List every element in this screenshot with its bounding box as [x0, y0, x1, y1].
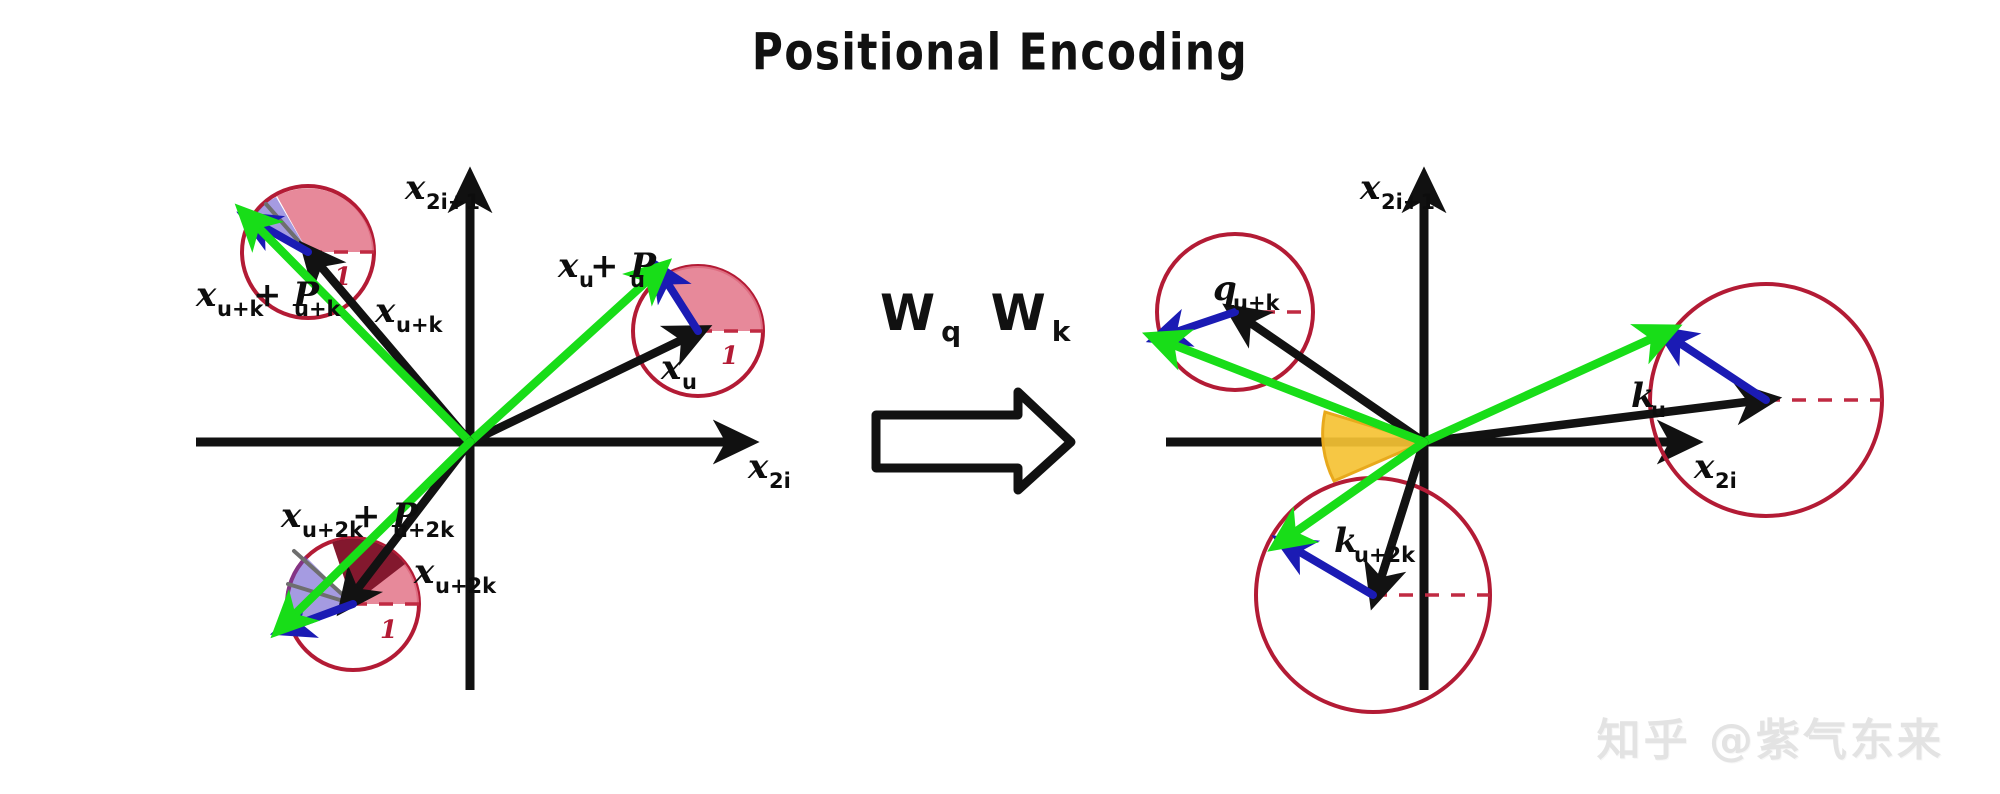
wk-label: W	[991, 284, 1052, 342]
left-label-sum-u-base: x	[557, 246, 579, 286]
right-label-q-u-plus-k: q u+k	[1213, 269, 1281, 315]
wq-subscript: q	[941, 315, 967, 348]
left-label-x-u-base: x	[660, 348, 682, 388]
left-label-x-u-plus-2k-sub: u+2k	[435, 574, 497, 598]
wk-subscript: k	[1052, 315, 1077, 348]
left-label-x-u: x u	[660, 348, 697, 394]
left-radius-label-u: 1	[721, 341, 738, 370]
right-vector-rot-k-u	[1669, 336, 1766, 400]
left-label-x-u-plus-k: x u+k	[374, 291, 444, 337]
right-x-axis-label-sub: 2i	[1715, 469, 1737, 493]
left-label-sum-u-plus-k-base: x	[195, 275, 217, 315]
left-label-x-u-plus-2k: x u+2k	[413, 552, 497, 598]
right-query-u-plus-k-group: q u+k	[1157, 234, 1424, 442]
left-label-sum-u-plus-2k: x u+2k + P u+2k	[280, 496, 455, 542]
left-label-sum-u-base2: + P	[590, 246, 657, 286]
left-x-axis-label-base: x	[747, 447, 769, 487]
left-label-x-u-sub: u	[682, 370, 697, 394]
right-vector-rot-q-u-plus-k	[1164, 312, 1235, 336]
left-panel: x 2i x 2i+1 1 x u x	[195, 168, 791, 690]
wq-label: W	[880, 284, 941, 342]
right-x-axis-label: x 2i	[1693, 447, 1737, 493]
right-label-q-u-plus-k-sub: u+k	[1233, 291, 1281, 315]
left-label-sum-u-plus-2k-sub2: u+2k	[393, 518, 455, 542]
right-y-axis-label-base: x	[1359, 168, 1381, 208]
right-y-axis-label-sub: 2i+1	[1381, 190, 1435, 214]
left-label-x-u-plus-k-base: x	[374, 291, 396, 331]
left-label-sum-u-sub2: u	[630, 268, 645, 292]
block-arrow-right-icon	[876, 392, 1071, 490]
left-label-sum-u-plus-k-sub2: u+k	[294, 297, 342, 321]
left-y-axis-label-base: x	[404, 168, 426, 208]
right-label-k-u-plus-2k: k u+2k	[1334, 521, 1416, 567]
figure-root: Positional Encoding x 2i	[0, 0, 2000, 794]
right-x-axis-label-base: x	[1693, 447, 1715, 487]
right-vector-k-u-plus-2k	[1377, 442, 1424, 591]
positional-encoding-diagram: x 2i x 2i+1 1 x u x	[0, 0, 2000, 794]
right-label-k-u-sub: u	[1651, 398, 1666, 422]
left-label-x-u-plus-2k-base: x	[413, 552, 435, 592]
left-label-x-u-plus-k-sub: u+k	[396, 313, 444, 337]
projection-operator-label: Wq Wk	[880, 284, 1076, 348]
left-token-u-plus-k-group: 1 x u+k x u+k + P u+k	[195, 186, 470, 442]
left-label-sum-u-plus-k: x u+k + P u+k	[195, 275, 342, 321]
left-vector-sum-u	[470, 272, 657, 442]
left-label-sum-u: x u + P u	[557, 246, 657, 292]
right-panel: x 2i x 2i+1 k u	[1157, 168, 1882, 712]
transform-arrow-icon	[876, 392, 1071, 490]
page-title: Positional Encoding	[80, 22, 1920, 81]
left-y-axis-label: x 2i+1	[404, 168, 480, 214]
left-token-u-plus-2k-group: 1 x u+2k x u+2k + P u+2k	[280, 442, 497, 670]
right-key-u-plus-2k-group: k u+2k	[1256, 442, 1490, 712]
left-label-sum-u-plus-2k-base: x	[280, 496, 302, 536]
right-y-axis-label: x 2i+1	[1359, 168, 1435, 214]
right-key-u-group: k u	[1424, 284, 1882, 516]
left-y-axis-label-sub: 2i+1	[426, 190, 480, 214]
right-label-k-u: k u	[1631, 376, 1666, 422]
left-token-u-group: 1 x u x u + P u	[470, 246, 763, 442]
watermark: 知乎 @紫气东来	[1597, 704, 1944, 768]
left-x-axis-label-sub: 2i	[769, 469, 791, 493]
right-label-k-u-plus-2k-sub: u+2k	[1354, 543, 1416, 567]
left-x-axis-label: x 2i	[747, 447, 791, 493]
left-radius-label-u-plus-2k: 1	[380, 615, 397, 644]
